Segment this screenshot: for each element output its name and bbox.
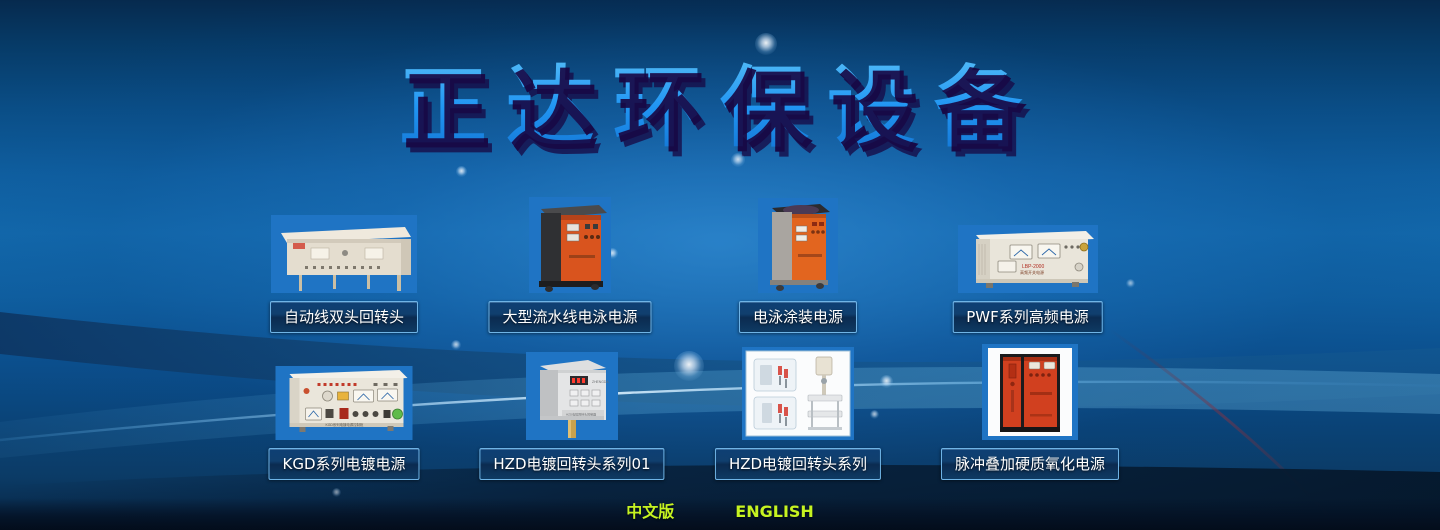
bokeh-dot — [755, 33, 777, 55]
product-label-hzd-plating-rotary-head[interactable]: HZD电镀回转头系列 — [715, 448, 881, 480]
product-item-hzd-plating-rotary-head-01[interactable]: ZHENGDA HZD电镀回转头控制器 HZD电镀回转头系列01 — [494, 342, 650, 480]
homepage-banner: 正达环保设备 自动线双头回转头 — [0, 0, 1440, 530]
svg-text:KGD系列电镀电源控制柜: KGD系列电镀电源控制柜 — [326, 422, 364, 427]
product-item-auto-line-double-head[interactable]: 自动线双头回转头 — [268, 198, 420, 333]
product-label-pwf-high-frequency-power[interactable]: PWF系列高频电源 — [952, 301, 1103, 333]
svg-text:高频开关电源: 高频开关电源 — [1020, 269, 1044, 275]
product-item-pulse-hard-anodizing-power[interactable]: 脉冲叠加硬质氧化电源 — [950, 340, 1110, 480]
page-title: 正达环保设备 — [0, 62, 1440, 154]
product-item-electrophoresis-coating-power[interactable]: 电泳涂装电源 — [722, 190, 874, 333]
product-label-auto-line-double-head[interactable]: 自动线双头回转头 — [270, 301, 418, 333]
cream-control-panel-photo[interactable]: KGD系列电镀电源控制柜 — [276, 366, 413, 444]
product-label-large-line-electrophoresis-power[interactable]: 大型流水线电泳电源 — [488, 301, 651, 333]
product-label-electrophoresis-coating-power[interactable]: 电泳涂装电源 — [739, 301, 857, 333]
product-label-pulse-hard-anodizing-power[interactable]: 脉冲叠加硬质氧化电源 — [941, 448, 1119, 480]
bokeh-dot — [1126, 279, 1135, 288]
white-benchtop-power-supply-photo[interactable]: LBP-2000 高频开关电源 — [958, 225, 1098, 297]
lang-link-chinese[interactable]: 中文版 — [626, 498, 674, 522]
bokeh-dot — [332, 488, 341, 497]
orange-black-cabinet-photo[interactable] — [529, 197, 611, 297]
bokeh-dot — [674, 351, 704, 381]
bokeh-dot — [880, 375, 893, 388]
language-bar: 中文版 ENGLISH — [0, 498, 1440, 522]
lang-link-english[interactable]: ENGLISH — [735, 502, 814, 521]
beige-industrial-cabinet-photo[interactable] — [271, 215, 417, 297]
product-label-kgd-plating-power[interactable]: KGD系列电镀电源 — [268, 448, 419, 480]
svg-text:HZD电镀回转头控制器: HZD电镀回转头控制器 — [566, 412, 596, 417]
svg-text:ZHENGDA: ZHENGDA — [592, 380, 609, 384]
product-label-hzd-plating-rotary-head-01[interactable]: HZD电镀回转头系列01 — [479, 448, 664, 480]
product-item-pwf-high-frequency-power[interactable]: LBP-2000 高频开关电源 PWF系列高频电源 — [950, 210, 1105, 333]
product-item-hzd-plating-rotary-head[interactable]: HZD电镀回转头系列 — [722, 340, 874, 480]
product-item-large-line-electrophoresis-power[interactable]: 大型流水线电泳电源 — [494, 188, 646, 333]
gray-rotary-head-unit-photo[interactable]: ZHENGDA HZD电镀回转头控制器 — [526, 352, 618, 444]
bokeh-dot — [451, 340, 461, 350]
wave-decoration — [0, 290, 1440, 530]
product-item-kgd-plating-power[interactable]: KGD系列电镀电源控制柜 KGD系列电镀电源 — [268, 352, 420, 480]
bokeh-dot — [456, 166, 467, 177]
white-composite-stand-photo[interactable] — [742, 347, 854, 444]
red-double-door-cabinet-photo[interactable] — [982, 344, 1078, 444]
orange-gray-cabinet-photo[interactable] — [758, 198, 838, 297]
